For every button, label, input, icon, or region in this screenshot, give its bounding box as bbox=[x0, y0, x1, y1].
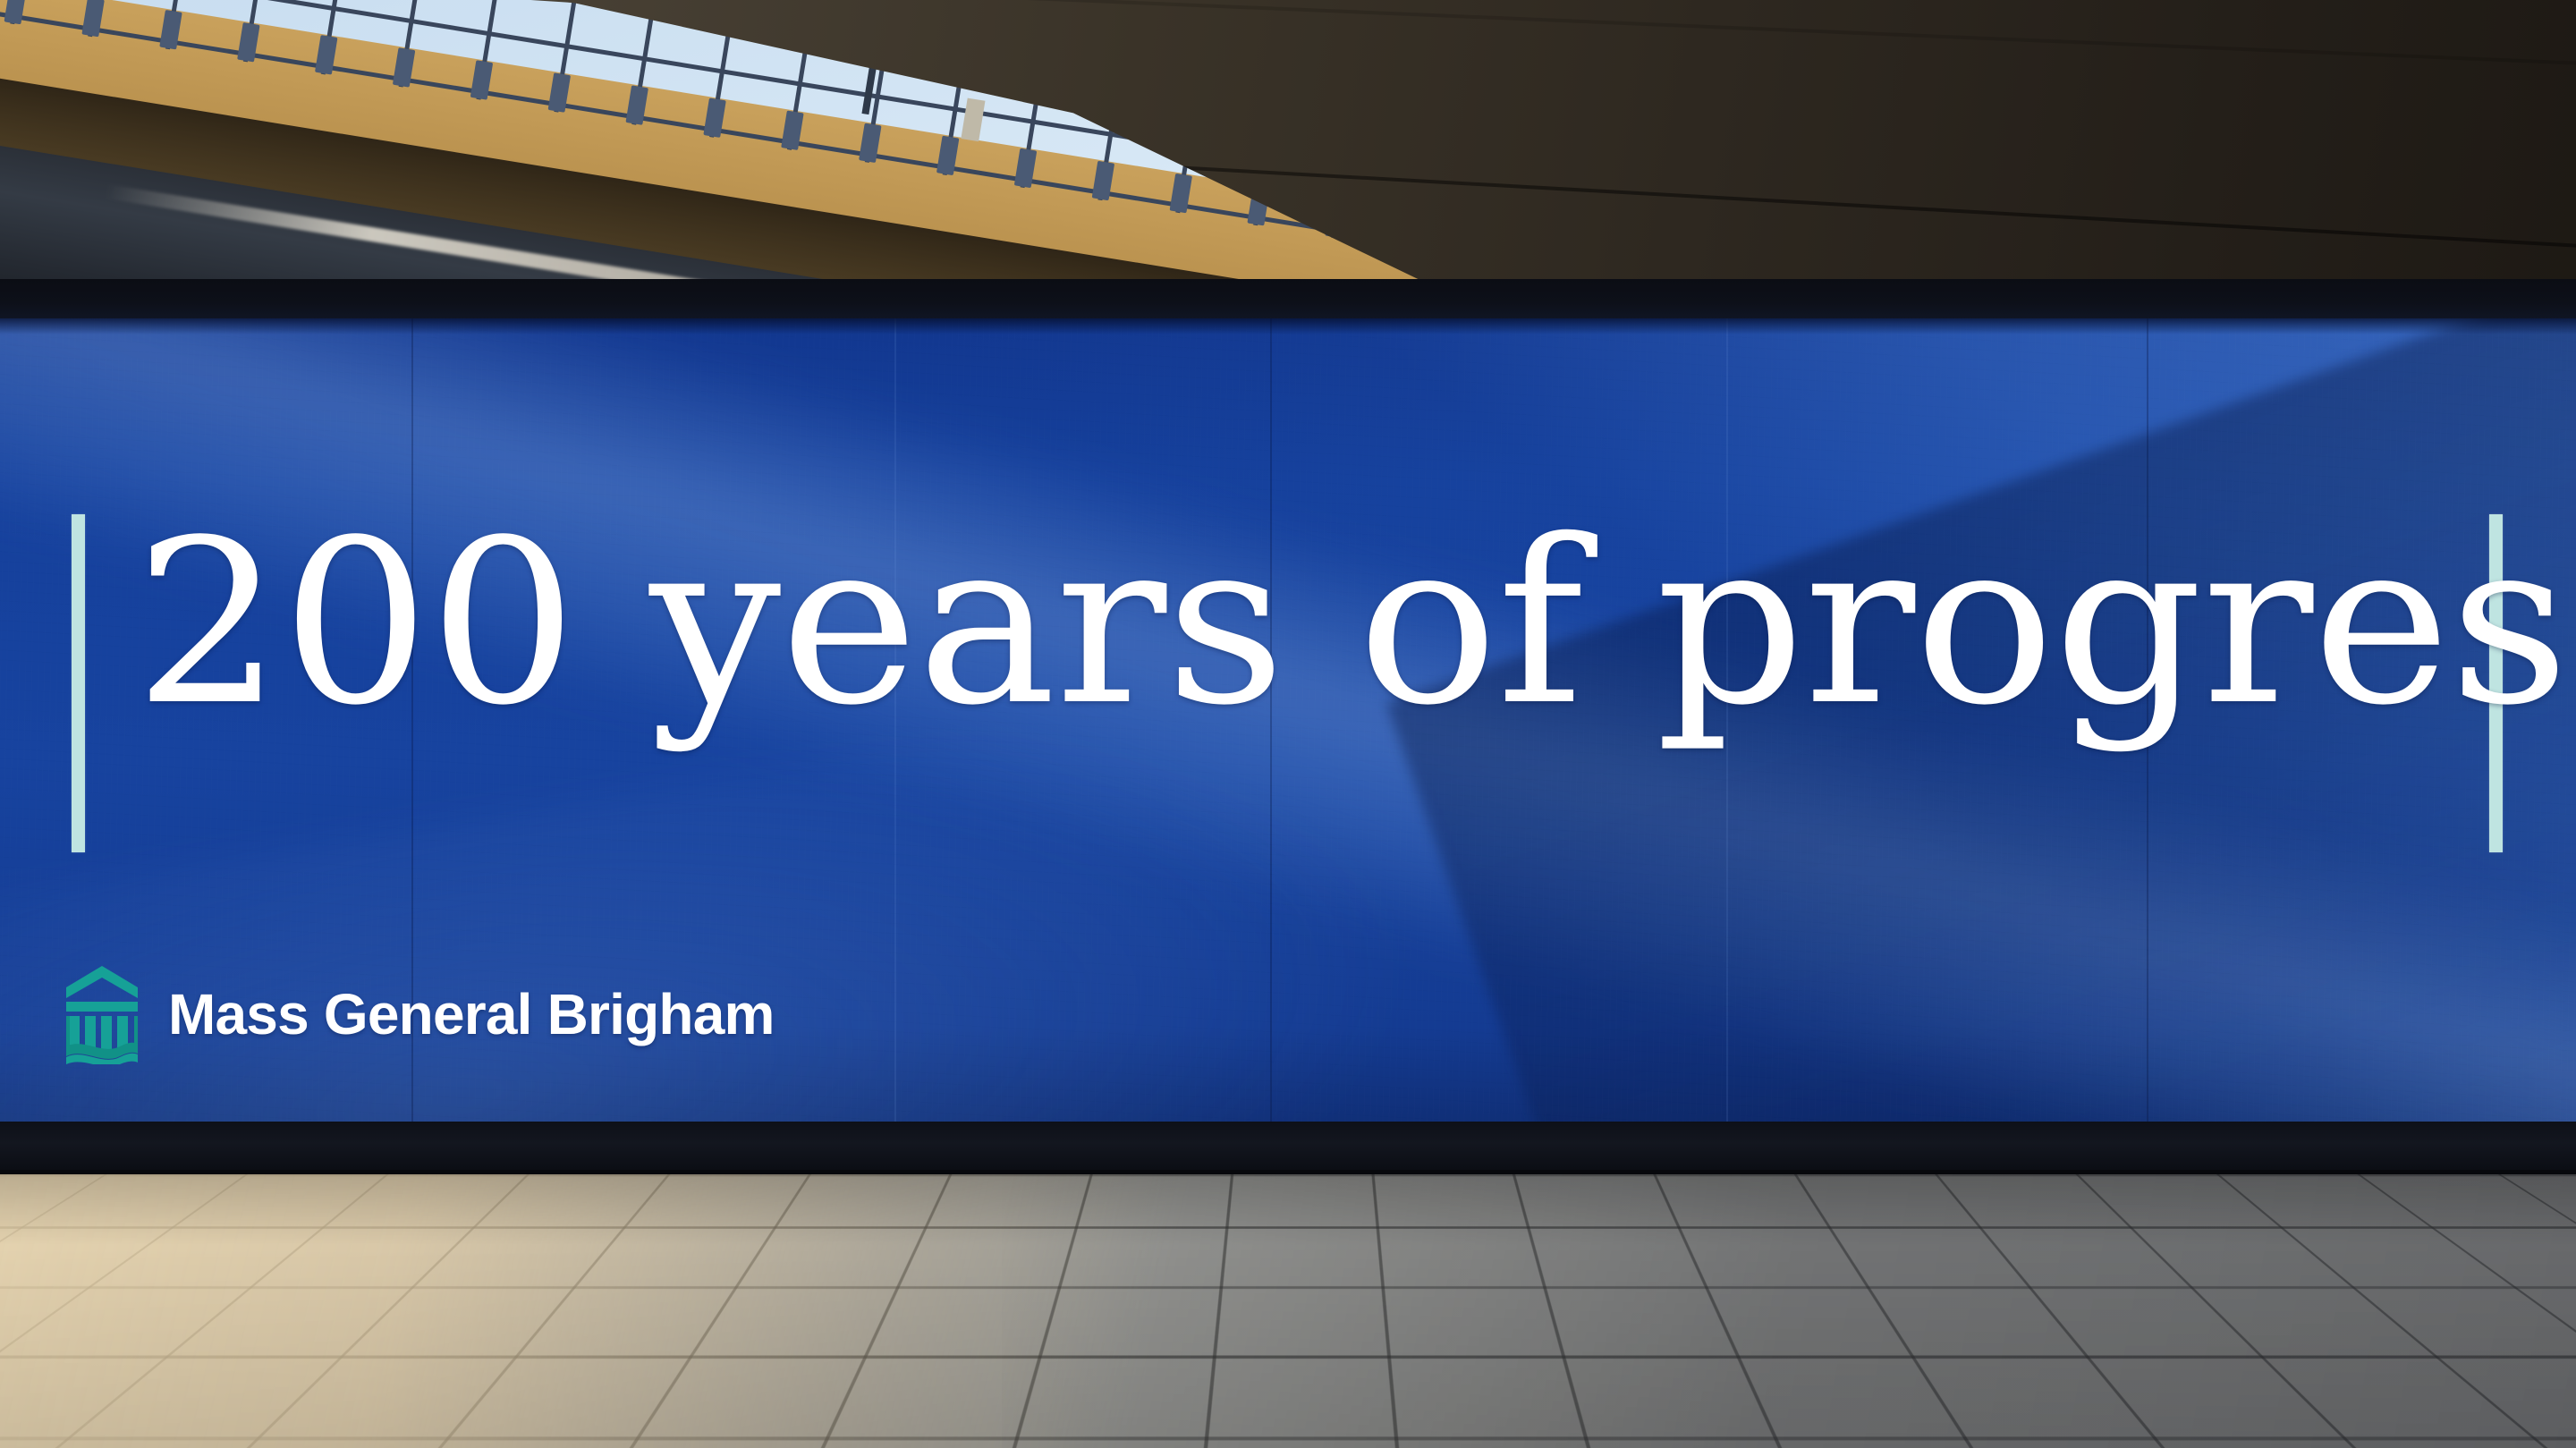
pavement bbox=[0, 1174, 2576, 1448]
pavement-vignette bbox=[0, 1174, 2576, 1448]
headline-rule-left bbox=[72, 514, 85, 852]
soffit-seam bbox=[770, 0, 2576, 72]
brand-logo-lockup: Mass General Brigham bbox=[61, 964, 775, 1064]
hoarding-base-plinth bbox=[0, 1122, 2576, 1175]
deck-marker-post bbox=[961, 98, 985, 142]
screenshot-root: 200 years of progress Mass General Brigh… bbox=[0, 0, 2576, 1448]
headline-text: 200 years of progress bbox=[134, 510, 2529, 736]
overpass-scene bbox=[0, 0, 2576, 322]
brand-wordmark: Mass General Brigham bbox=[168, 986, 775, 1043]
railing-post-plate bbox=[4, 0, 27, 24]
wall-top-shadow-lip bbox=[0, 318, 2576, 334]
hoarding-top-frame bbox=[0, 279, 2576, 322]
mass-general-brigham-building-icon bbox=[61, 964, 143, 1064]
